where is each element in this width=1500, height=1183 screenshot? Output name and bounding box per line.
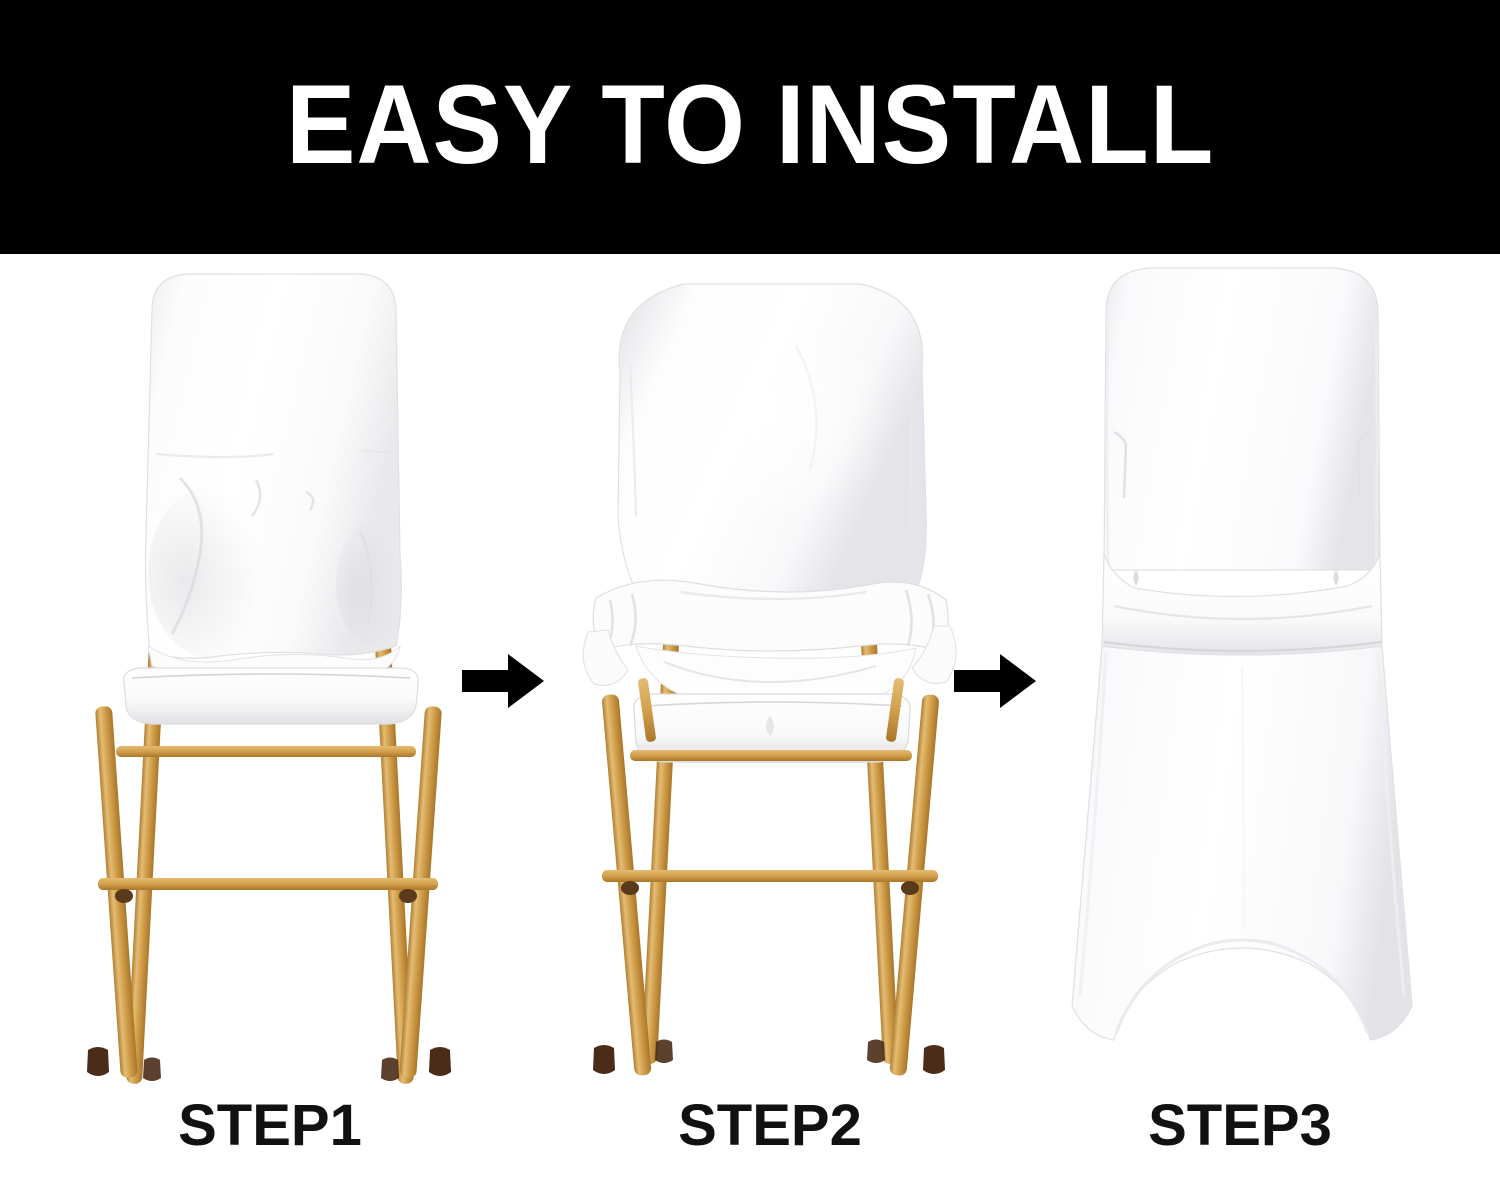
folding-chair-cover-draped-icon	[60, 254, 480, 1084]
steps-container: STEP1	[0, 254, 1500, 1183]
step-3-image	[1030, 254, 1450, 1084]
arrow-right-icon-1	[462, 652, 544, 710]
step-3-label: STEP3	[1030, 1092, 1450, 1159]
step-2-label: STEP2	[560, 1092, 980, 1159]
chair-cover-fabric	[146, 274, 409, 680]
step-2-image	[560, 254, 980, 1084]
chair-seat	[124, 668, 418, 724]
page-title: EASY TO INSTALL	[286, 69, 1214, 181]
infographic-page: EASY TO INSTALL	[0, 0, 1500, 1183]
arrow-right-icon-2	[954, 652, 1036, 710]
chair-cover-skirt	[1072, 646, 1412, 1040]
chair-cover-backrest	[1104, 268, 1380, 570]
step-1-image	[60, 254, 480, 1084]
folding-chair-cover-gathered-icon	[560, 254, 980, 1084]
folding-chair-cover-fitted-icon	[1030, 254, 1450, 1084]
step-2: STEP2	[560, 254, 980, 1183]
step-3: STEP3	[1030, 254, 1450, 1183]
chair-cover-fabric	[618, 284, 926, 604]
step-1-label: STEP1	[60, 1092, 480, 1159]
title-banner: EASY TO INSTALL	[0, 0, 1500, 254]
step-1: STEP1	[60, 254, 480, 1183]
